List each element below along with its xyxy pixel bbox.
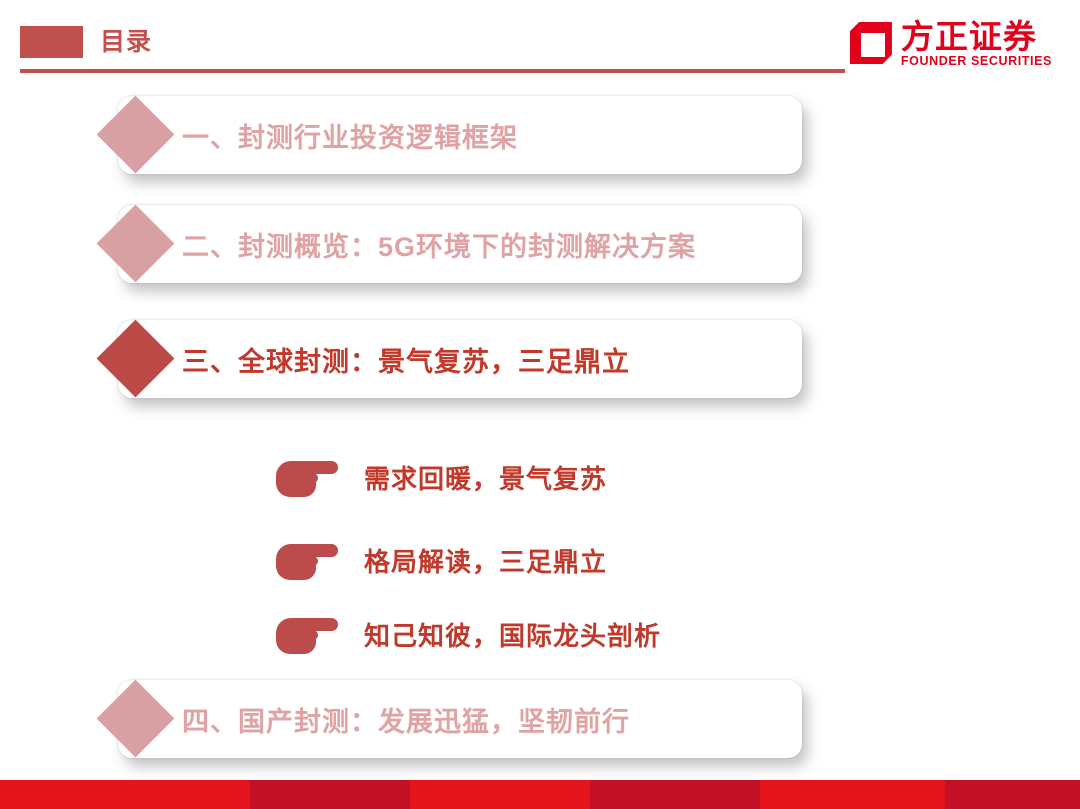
toc-subitem-1[interactable]: 需求回暖，景气复苏 (276, 450, 607, 504)
slide-root: 目录 方正证券 FOUNDER SECURITIES 一、封测行业投资逻辑框架 … (0, 0, 1080, 809)
footer-segment-5 (760, 780, 945, 809)
toc-subitem-2[interactable]: 格局解读，三足鼎立 (276, 533, 607, 587)
toc-subitem-label: 格局解读，三足鼎立 (364, 542, 607, 579)
toc-item-1[interactable]: 一、封测行业投资逻辑框架 (118, 96, 802, 174)
pointing-hand-icon (276, 540, 338, 580)
toc-item-label: 二、封测概览：5G环境下的封测解决方案 (182, 205, 696, 283)
toc-item-label: 四、国产封测：发展迅猛，坚韧前行 (182, 680, 630, 758)
toc-item-3[interactable]: 三、全球封测：景气复苏，三足鼎立 (118, 320, 802, 398)
toc-subitem-3[interactable]: 知己知彼，国际龙头剖析 (276, 607, 661, 661)
toc-item-label: 三、全球封测：景气复苏，三足鼎立 (182, 320, 630, 398)
footer-segment-2 (250, 780, 410, 809)
footer-bar (0, 780, 1080, 809)
footer-segment-1 (0, 780, 250, 809)
footer-segment-3 (410, 780, 590, 809)
table-of-contents: 一、封测行业投资逻辑框架 二、封测概览：5G环境下的封测解决方案 三、全球封测：… (0, 0, 1080, 809)
toc-item-2[interactable]: 二、封测概览：5G环境下的封测解决方案 (118, 205, 802, 283)
toc-subitem-label: 需求回暖，景气复苏 (364, 459, 607, 496)
footer-segment-6 (945, 780, 1080, 809)
toc-subitem-label: 知己知彼，国际龙头剖析 (364, 616, 661, 653)
toc-item-4[interactable]: 四、国产封测：发展迅猛，坚韧前行 (118, 680, 802, 758)
toc-item-label: 一、封测行业投资逻辑框架 (182, 96, 518, 174)
pointing-hand-icon (276, 614, 338, 654)
pointing-hand-icon (276, 457, 338, 497)
footer-segment-4 (590, 780, 760, 809)
